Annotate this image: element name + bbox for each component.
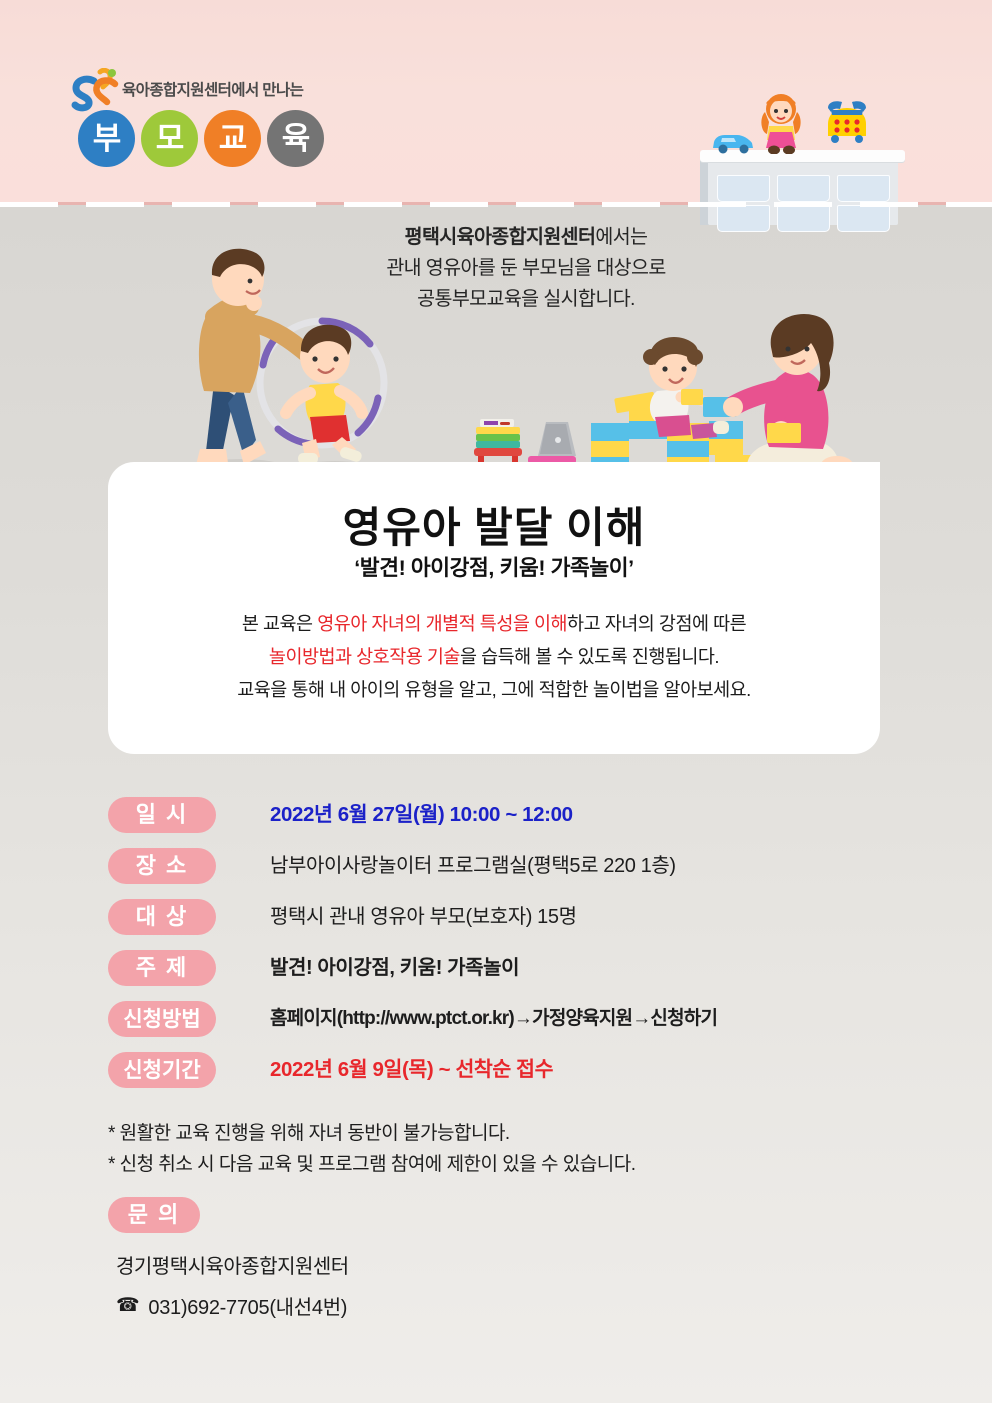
desc-1b: 하고 자녀의 강점에 따른	[567, 613, 746, 634]
label-badge-period: 신청기간	[108, 1052, 216, 1088]
contact-phone-number: 031)692-7705(내선4번)	[148, 1291, 347, 1320]
contact-section: 문 의 경기평택시육아종합지원센터 ☎ 031)692-7705(내선4번)	[108, 1197, 708, 1320]
shelf-bin	[777, 205, 830, 232]
toy-shelf-illustration	[700, 150, 905, 225]
label-badge-topic: 주 제	[108, 950, 216, 986]
description-line-3: 교육을 통해 내 아이의 유형을 알고, 그에 적합한 놀이법을 알아보세요.	[134, 673, 854, 706]
description-paragraph: 본 교육은 영유아 자녀의 개별적 특성을 이해하고 자녀의 강점에 따른 놀이…	[134, 607, 854, 706]
value-location: 남부아이사랑놀이터 프로그램실(평택5로 220 1층)	[270, 850, 676, 882]
description-line-1: 본 교육은 영유아 자녀의 개별적 특성을 이해하고 자녀의 강점에 따른	[134, 607, 854, 640]
note-item: * 원활한 교육 진행을 위해 자녀 동반이 불가능합니다.	[108, 1118, 908, 1149]
shelf-bin	[777, 175, 830, 202]
sc-swirl-icon	[70, 68, 128, 114]
logo-circle-gyo: 교	[204, 110, 261, 167]
toy-car-icon	[710, 130, 756, 154]
shelf-bin	[837, 205, 890, 232]
logo-circle-yuk: 육	[267, 110, 324, 167]
info-table: 일 시 2022년 6월 27일(월) 10:00 ~ 12:00 장 소 남부…	[108, 795, 968, 1101]
label-badge-howto: 신청방법	[108, 1001, 216, 1037]
desc-2b: 을 습득해 볼 수 있도록 진행됩니다.	[460, 646, 719, 667]
contact-phone-row: ☎ 031)692-7705(내선4번)	[116, 1291, 708, 1320]
logo-circle-bu: 부	[78, 110, 135, 167]
intro-line-3: 공통부모교육을 실시합니다.	[316, 284, 736, 315]
page-title: 영유아 발달 이해	[108, 494, 880, 555]
toy-telephone-icon	[822, 98, 872, 146]
value-datetime: 2022년 6월 27일(월) 10:00 ~ 12:00	[270, 799, 573, 831]
label-badge-datetime: 일 시	[108, 797, 216, 833]
info-row-audience: 대 상 평택시 관내 영유아 부모(보호자) 15명	[108, 897, 968, 948]
label-badge-location: 장 소	[108, 848, 216, 884]
telephone-icon: ☎	[116, 1294, 139, 1317]
main-title-card: 영유아 발달 이해 ‘발견! 아이강점, 키움! 가족놀이’ 본 교육은 영유아…	[108, 462, 880, 754]
info-row-howto: 신청방법 홈페이지(http://www.ptct.or.kr)→가정양육지원→…	[108, 999, 968, 1050]
intro-line1-rest: 에서는	[595, 226, 647, 248]
intro-copy: 평택시육아종합지원센터에서는 관내 영유아를 둔 부모님을 대상으로 공통부모교…	[316, 222, 736, 315]
logo-word-circles: 부 모 교 육	[78, 110, 324, 167]
page-subtitle: ‘발견! 아이강점, 키움! 가족놀이’	[108, 551, 880, 582]
value-period: 2022년 6월 9일(목) ~ 선착순 접수	[270, 1054, 553, 1086]
intro-line-1: 평택시육아종합지원센터에서는	[316, 222, 736, 253]
intro-center-name: 평택시육아종합지원센터	[405, 226, 596, 248]
contact-organization: 경기평택시육아종합지원센터	[116, 1250, 708, 1279]
brand-logo: 육아종합지원센터에서 만나는 부 모 교 육	[70, 62, 400, 182]
logo-circle-mo: 모	[141, 110, 198, 167]
shelf-bin	[717, 175, 770, 202]
header-divider-dashed	[0, 202, 992, 207]
info-row-topic: 주 제 발견! 아이강점, 키움! 가족놀이	[108, 948, 968, 999]
description-line-2: 놀이방법과 상호작용 기술을 습득해 볼 수 있도록 진행됩니다.	[134, 640, 854, 673]
desc-1a: 본 교육은	[242, 613, 317, 634]
label-badge-contact: 문 의	[108, 1197, 200, 1233]
logo-tagline: 육아종합지원센터에서 만나는	[122, 78, 303, 100]
label-badge-audience: 대 상	[108, 899, 216, 935]
value-topic: 발견! 아이강점, 키움! 가족놀이	[270, 952, 519, 984]
info-row-location: 장 소 남부아이사랑놀이터 프로그램실(평택5로 220 1층)	[108, 846, 968, 897]
poster-root: 육아종합지원센터에서 만나는 부 모 교 육	[0, 0, 992, 1403]
value-audience: 평택시 관내 영유아 부모(보호자) 15명	[270, 901, 577, 933]
shelf-bin	[837, 175, 890, 202]
desc-2-highlight: 놀이방법과 상호작용 기술	[269, 646, 460, 667]
note-item: * 신청 취소 시 다음 교육 및 프로그램 참여에 제한이 있을 수 있습니다…	[108, 1149, 908, 1180]
desc-1-highlight: 영유아 자녀의 개별적 특성을 이해	[317, 613, 567, 634]
notes-list: * 원활한 교육 진행을 위해 자녀 동반이 불가능합니다. * 신청 취소 시…	[108, 1118, 908, 1180]
value-howto[interactable]: 홈페이지(http://www.ptct.or.kr)→가정양육지원→신청하기	[270, 1003, 717, 1035]
intro-line-2: 관내 영유아를 둔 부모님을 대상으로	[316, 253, 736, 284]
info-row-datetime: 일 시 2022년 6월 27일(월) 10:00 ~ 12:00	[108, 795, 968, 846]
toy-doll-icon	[755, 92, 807, 154]
info-row-period: 신청기간 2022년 6월 9일(목) ~ 선착순 접수	[108, 1050, 968, 1101]
